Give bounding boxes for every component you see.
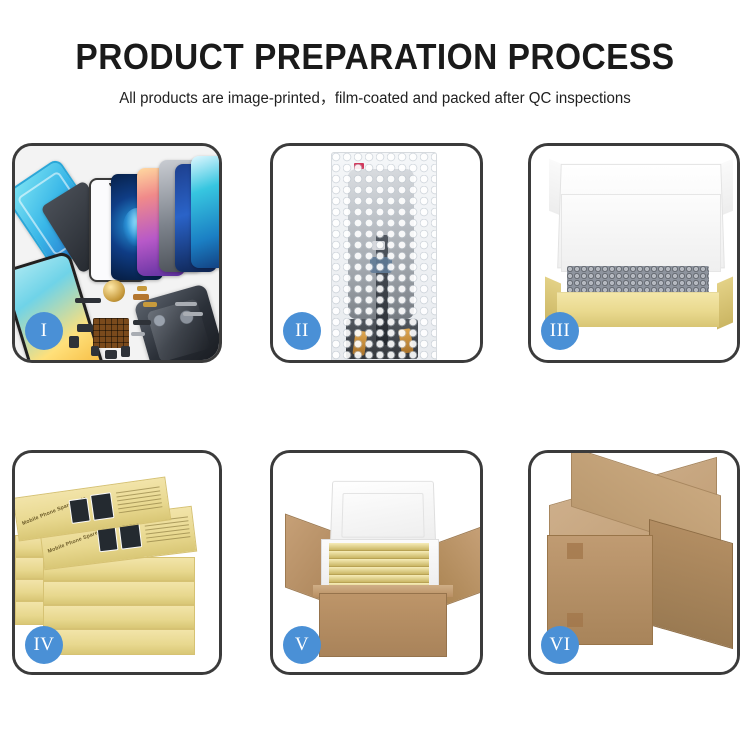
- step-badge-1: I: [25, 312, 63, 350]
- yellow-box-row: [329, 559, 429, 567]
- step-badge-4: IV: [25, 626, 63, 664]
- phone-teal: [191, 156, 222, 268]
- box-screen-graphic: [97, 526, 119, 552]
- spare-part-connector: [121, 346, 130, 357]
- step-panel-4: Mobile Phone Spare Parts Mobile Phone Sp…: [12, 450, 222, 675]
- yellow-tray-front: [557, 292, 719, 327]
- bubble-texture: [332, 153, 436, 363]
- retail-box-stack-item: [43, 605, 195, 629]
- spare-part-sim-tray: [91, 346, 99, 356]
- spare-part-bracket: [131, 332, 145, 336]
- box-screen-graphic: [69, 498, 91, 524]
- spare-part-tool-driver: [183, 312, 203, 316]
- spare-part-screw-tray: [93, 318, 129, 348]
- carton-body: [319, 593, 447, 657]
- step-badge-2: II: [283, 312, 321, 350]
- spare-part-button: [69, 336, 79, 348]
- steps-grid: I II: [0, 0, 750, 750]
- yellow-box-row: [329, 543, 429, 551]
- step-panel-5: V: [270, 450, 483, 675]
- step-badge-6: VI: [541, 626, 579, 664]
- step-badge-5: V: [283, 626, 321, 664]
- spare-part-antenna: [133, 320, 151, 325]
- yellow-box-row: [329, 575, 429, 583]
- spare-part-flex-1: [75, 298, 101, 303]
- spare-part-vibrator: [105, 350, 117, 359]
- retail-box-stack-item: [43, 629, 195, 655]
- spare-part-flex-2: [133, 294, 149, 300]
- foam-sheet: [561, 194, 721, 272]
- spare-part-speaker: [103, 280, 125, 302]
- spare-part-flex-3: [143, 302, 157, 307]
- product-preparation-infographic: PRODUCT PREPARATION PROCESS All products…: [0, 0, 750, 750]
- step-panel-6: VI: [528, 450, 740, 675]
- spare-part-contact: [137, 286, 147, 291]
- step-badge-3: III: [541, 312, 579, 350]
- step-panel-1: I: [12, 143, 222, 363]
- yellow-box-row: [329, 567, 429, 575]
- yellow-boxes-inside: [329, 543, 429, 591]
- step-panel-2: II: [270, 143, 483, 363]
- carton-corner-mark-bottom: [567, 613, 583, 627]
- spare-part-camera: [77, 324, 93, 332]
- step-panel-3: III: [528, 143, 740, 363]
- yellow-box-row: [329, 551, 429, 559]
- yellow-tray-right-side: [717, 276, 733, 329]
- carton-side-face: [649, 519, 733, 649]
- carton-corner-mark-top: [567, 543, 583, 559]
- box-screen-graphic: [90, 492, 114, 521]
- bubble-wrap-bag: [331, 152, 437, 363]
- spare-part-tool-tweezer: [175, 302, 197, 306]
- retail-box-stack-item: [43, 581, 195, 605]
